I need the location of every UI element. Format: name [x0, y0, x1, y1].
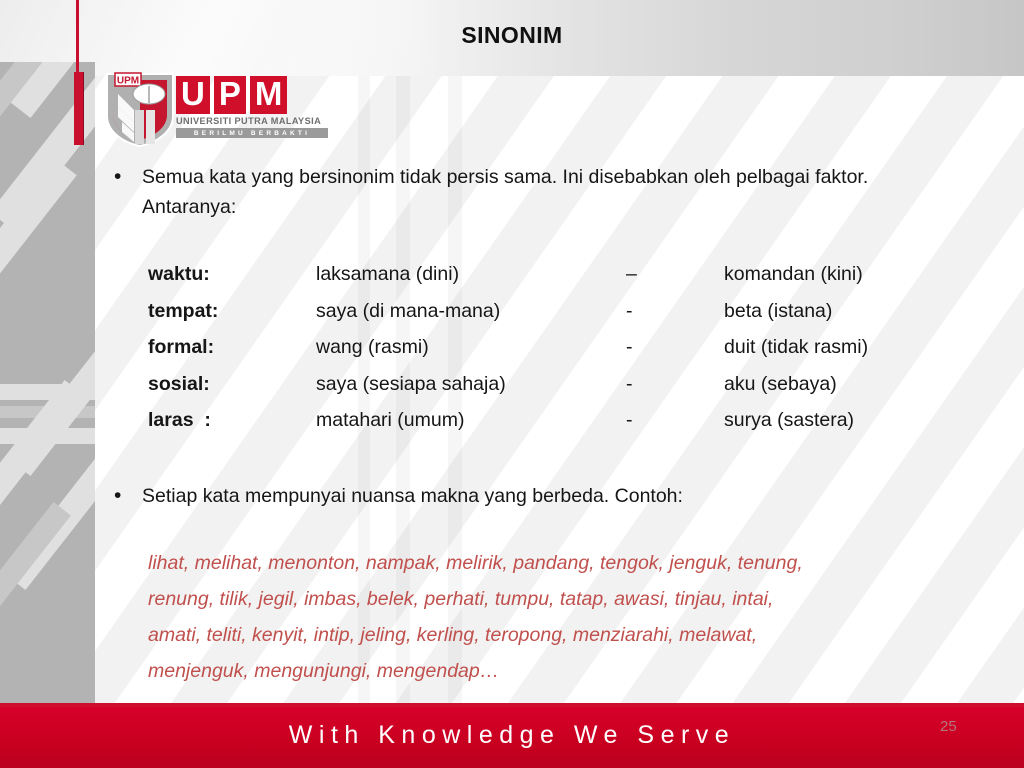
- row-right: komandan (kini): [724, 256, 974, 293]
- synonym-list-line: menjenguk, mengunjungi, mengendap…: [148, 653, 968, 689]
- footer-tagline: With Knowledge We Serve: [0, 703, 1024, 768]
- bullet-text-2: Setiap kata mempunyai nuansa makna yang …: [142, 481, 683, 511]
- row-separator: -: [626, 366, 724, 403]
- bullet-item-2: • Setiap kata mempunyai nuansa makna yan…: [104, 481, 984, 511]
- row-left: matahari (umum): [316, 402, 626, 439]
- row-right: aku (sebaya): [724, 366, 974, 403]
- table-row: tempat: saya (di mana-mana) - beta (ista…: [148, 293, 974, 330]
- row-left: saya (di mana-mana): [316, 293, 626, 330]
- synonym-factor-table-body: waktu: laksamana (dini) – komandan (kini…: [148, 256, 974, 439]
- upm-wordmark: U P M UNIVERSITI PUTRA MALAYSIA BERILMU …: [176, 76, 328, 138]
- row-left: saya (sesiapa sahaja): [316, 366, 626, 403]
- red-accent-bar-thick: [74, 72, 84, 145]
- left-decorative-panel: [0, 62, 95, 703]
- upm-letter-m: M: [250, 76, 288, 114]
- row-label: waktu:: [148, 256, 316, 293]
- bullet-text-1: Semua kata yang bersinonim tidak persis …: [142, 162, 952, 222]
- row-label: formal:: [148, 329, 316, 366]
- footer-band: With Knowledge We Serve: [0, 703, 1024, 768]
- row-right: beta (istana): [724, 293, 974, 330]
- row-separator: -: [626, 402, 724, 439]
- upm-letter-p: P: [214, 76, 246, 114]
- slide-canvas: SINONIM UPM U P M: [0, 0, 1024, 768]
- upm-motto: BERILMU BERBAKTI: [176, 128, 328, 138]
- row-label: sosial:: [148, 366, 316, 403]
- upm-subtitle: UNIVERSITI PUTRA MALAYSIA: [176, 116, 328, 126]
- bullet-item-1: • Semua kata yang bersinonim tidak persi…: [104, 162, 984, 222]
- row-separator: -: [626, 329, 724, 366]
- row-label: laras :: [148, 402, 316, 439]
- page-number: 25: [940, 718, 957, 735]
- upm-letter-u: U: [176, 76, 210, 114]
- table-row: sosial: saya (sesiapa sahaja) - aku (seb…: [148, 366, 974, 403]
- upm-logo: UPM U P M UNIVERSITI PUTRA MALAYSIA BERI…: [104, 70, 304, 150]
- row-right: duit (tidak rasmi): [724, 329, 974, 366]
- row-separator: –: [626, 256, 724, 293]
- page-title: SINONIM: [0, 22, 1024, 49]
- svg-text:UPM: UPM: [117, 76, 139, 87]
- synonym-word-list: lihat, melihat, menonton, nampak, meliri…: [148, 545, 968, 689]
- upm-shield-icon: UPM: [104, 70, 176, 153]
- table-row: waktu: laksamana (dini) – komandan (kini…: [148, 256, 974, 293]
- table-row: formal: wang (rasmi) - duit (tidak rasmi…: [148, 329, 974, 366]
- bullet-marker-icon: •: [104, 481, 142, 511]
- synonym-factor-table: waktu: laksamana (dini) – komandan (kini…: [148, 256, 974, 439]
- row-label: tempat:: [148, 293, 316, 330]
- synonym-list-line: amati, teliti, kenyit, intip, jeling, ke…: [148, 617, 968, 653]
- row-left: laksamana (dini): [316, 256, 626, 293]
- row-right: surya (sastera): [724, 402, 974, 439]
- row-separator: -: [626, 293, 724, 330]
- row-left: wang (rasmi): [316, 329, 626, 366]
- synonym-list-line: lihat, melihat, menonton, nampak, meliri…: [148, 545, 968, 581]
- bullet-marker-icon: •: [104, 162, 142, 192]
- table-row: laras : matahari (umum) - surya (sastera…: [148, 402, 974, 439]
- synonym-list-line: renung, tilik, jegil, imbas, belek, perh…: [148, 581, 968, 617]
- slide-content: • Semua kata yang bersinonim tidak persi…: [104, 162, 984, 689]
